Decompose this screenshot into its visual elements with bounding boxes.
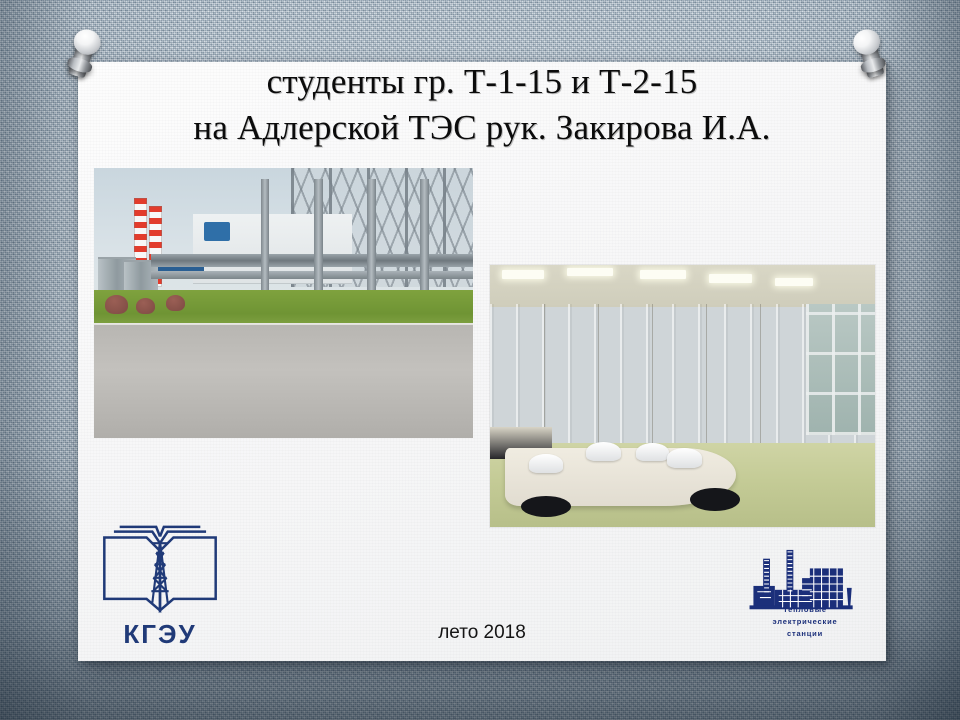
tes-logo-line1: Тепловые (744, 605, 866, 615)
photo-hard-hat (667, 448, 702, 468)
photo-hard-hat (586, 442, 621, 462)
slide-card: студенты гр. Т-1-15 и Т-2-15 на Адлерско… (78, 62, 886, 661)
photo-ceiling-lamp (640, 270, 686, 278)
photo-column-3 (367, 179, 376, 292)
photo-blue-sign (204, 222, 231, 241)
photo-ceiling-lamp (709, 274, 751, 282)
slide-caption: лето 2018 (78, 622, 886, 644)
kgeu-book-tower-icon (94, 524, 226, 620)
photo-students-outside-plant (94, 168, 473, 438)
photo-column-2 (314, 179, 323, 292)
photo-window-frame (806, 304, 875, 435)
photo-ceiling-lamp (775, 278, 814, 286)
photo-ceiling-lamp (567, 268, 613, 276)
photo-ceiling-lamp (502, 270, 544, 278)
photo-bush-1 (105, 295, 128, 314)
photo-hard-hat (636, 443, 669, 461)
page-title: студенты гр. Т-1-15 и Т-2-15 на Адлерско… (78, 59, 886, 151)
photo-bush-3 (166, 295, 185, 311)
photo-pavement (94, 325, 473, 438)
photo-column-1 (261, 179, 270, 292)
photo-table-cutout (521, 496, 571, 517)
photo-column-4 (420, 179, 429, 292)
presentation-slide: студенты гр. Т-1-15 и Т-2-15 на Адлерско… (0, 0, 960, 720)
photo-bush-2 (136, 298, 155, 314)
photo-hard-hat (529, 454, 564, 474)
photo-students-indoors (490, 265, 875, 527)
